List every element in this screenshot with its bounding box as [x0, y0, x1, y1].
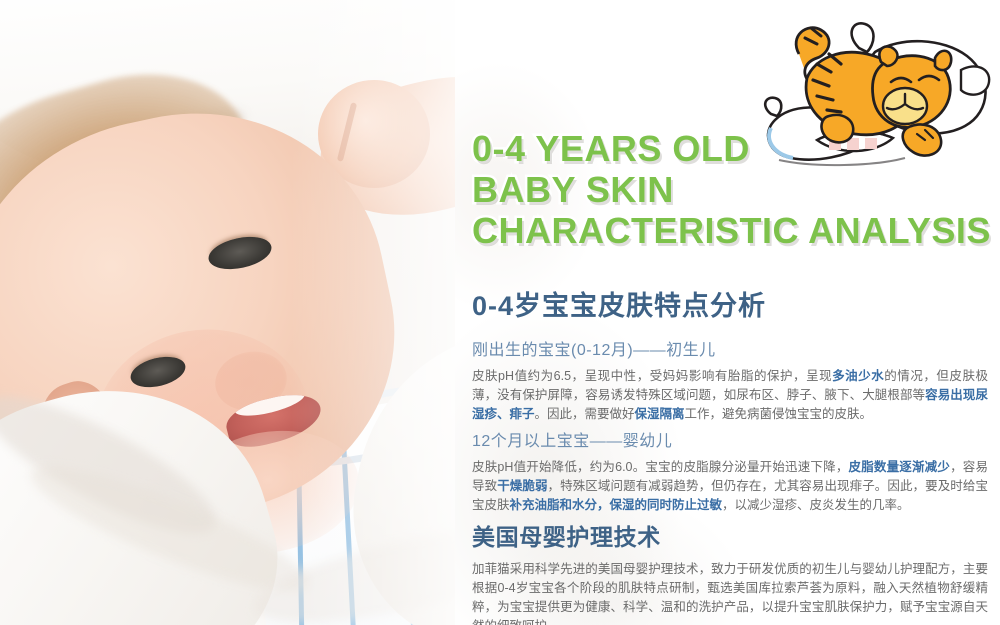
- body-text: 皮肤pH值开始降低，约为6.0。宝宝的皮脂腺分泌量开始迅速下降，: [472, 460, 849, 474]
- headline-line-3: CHARACTERISTIC ANALYSIS: [472, 210, 992, 251]
- highlighted-text: 干燥脆弱: [497, 479, 547, 493]
- section-infant: 12个月以上宝宝——婴幼儿 皮肤pH值开始降低，约为6.0。宝宝的皮脂腺分泌量开…: [472, 427, 988, 515]
- body-text: 皮肤pH值约为6.5，呈现中性，受妈妈影响有胎脂的保护，呈现: [472, 369, 832, 383]
- body-text: 加菲猫采用科学先进的美国母婴护理技术，致力于研发优质的初生儿与婴幼儿护理配方，主…: [472, 562, 988, 625]
- headline-line-2: BABY SKIN: [472, 169, 992, 210]
- section-body: 皮肤pH值约为6.5，呈现中性，受妈妈影响有胎脂的保护，呈现多油少水的情况，但皮…: [472, 367, 988, 424]
- section-body: 加菲猫采用科学先进的美国母婴护理技术，致力于研发优质的初生儿与婴幼儿护理配方，主…: [472, 560, 988, 625]
- body-text: ，以减少湿疹、皮炎发生的几率。: [722, 498, 910, 512]
- content-panel: 0-4 YEARS OLD BABY SKIN CHARACTERISTIC A…: [455, 0, 1000, 625]
- body-text: 。因此，需要做好: [535, 407, 635, 421]
- highlighted-text: 保湿隔离: [635, 407, 685, 421]
- section-heading: 美国母婴护理技术: [472, 518, 988, 552]
- body-text: 工作，避免病菌侵蚀宝宝的皮肤。: [685, 407, 873, 421]
- highlighted-text: 多油少水: [832, 369, 884, 383]
- headline: 0-4 YEARS OLD BABY SKIN CHARACTERISTIC A…: [472, 128, 992, 251]
- headline-line-1: 0-4 YEARS OLD: [472, 128, 992, 169]
- highlighted-text: 补充油脂和水分，保湿的同时防止过敏: [510, 498, 723, 512]
- section-newborn: 刚出生的宝宝(0-12月)——初生儿 皮肤pH值约为6.5，呈现中性，受妈妈影响…: [472, 336, 988, 424]
- poster-page: 0-4 YEARS OLD BABY SKIN CHARACTERISTIC A…: [0, 0, 1000, 625]
- page-title: 0-4岁宝宝皮肤特点分析: [472, 284, 766, 323]
- section-heading: 刚出生的宝宝(0-12月)——初生儿: [472, 336, 988, 360]
- section-heading: 12个月以上宝宝——婴幼儿: [472, 427, 988, 451]
- section-technology: 美国母婴护理技术 加菲猫采用科学先进的美国母婴护理技术，致力于研发优质的初生儿与…: [472, 518, 988, 625]
- section-body: 皮肤pH值开始降低，约为6.0。宝宝的皮脂腺分泌量开始迅速下降，皮脂数量逐渐减少…: [472, 458, 988, 515]
- highlighted-text: 皮脂数量逐渐减少: [849, 460, 951, 474]
